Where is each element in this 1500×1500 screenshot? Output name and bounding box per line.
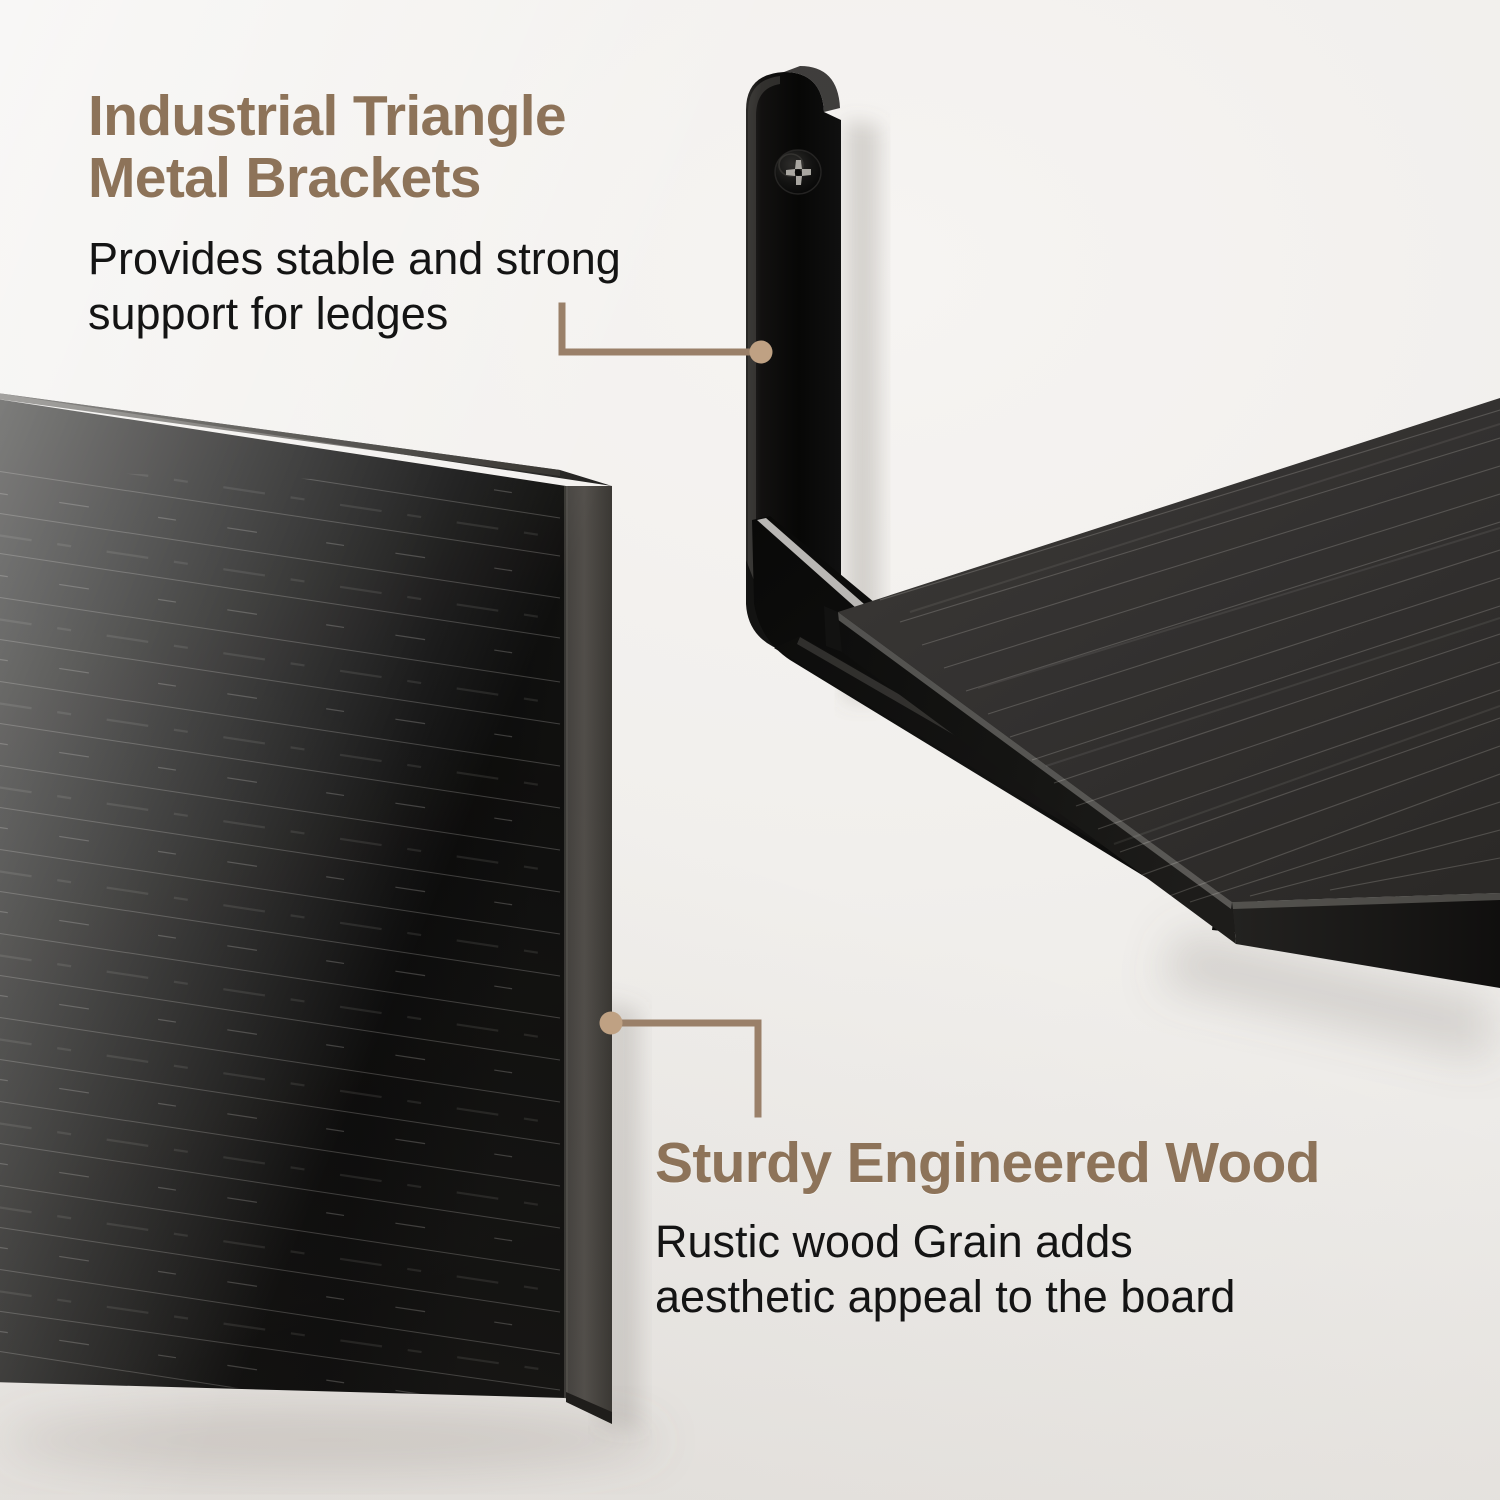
callout-metal-brackets: Industrial TriangleMetal Brackets Provid… <box>88 86 748 341</box>
callout-brackets-headline-line2: Metal Brackets <box>88 146 481 210</box>
callout-brackets-body-line2: support for ledges <box>88 288 448 339</box>
board-face-sheen <box>0 398 566 1398</box>
board-ground-shadow <box>0 1406 660 1474</box>
callout-engineered-wood: Sturdy Engineered Wood Rustic wood Grain… <box>655 1133 1465 1325</box>
callout-wood-headline: Sturdy Engineered Wood <box>655 1133 1465 1195</box>
callout-brackets-body-line1: Provides stable and strong <box>88 233 621 284</box>
callout-brackets-body: Provides stable and strongsupport for le… <box>88 232 748 342</box>
callout-wood-body-line1: Rustic wood Grain adds <box>655 1216 1133 1267</box>
callout-brackets-headline: Industrial TriangleMetal Brackets <box>88 86 748 210</box>
mounting-screw <box>775 150 821 194</box>
board-edge-shading <box>566 486 612 1420</box>
infographic-canvas: Industrial TriangleMetal Brackets Provid… <box>0 0 1500 1500</box>
wall-shelf-right <box>824 398 1500 988</box>
callout-wood-body: Rustic wood Grain addsaesthetic appeal t… <box>655 1215 1465 1325</box>
callout-wood-body-line2: aesthetic appeal to the board <box>655 1271 1235 1322</box>
callout-brackets-headline-line1: Industrial Triangle <box>88 84 566 148</box>
